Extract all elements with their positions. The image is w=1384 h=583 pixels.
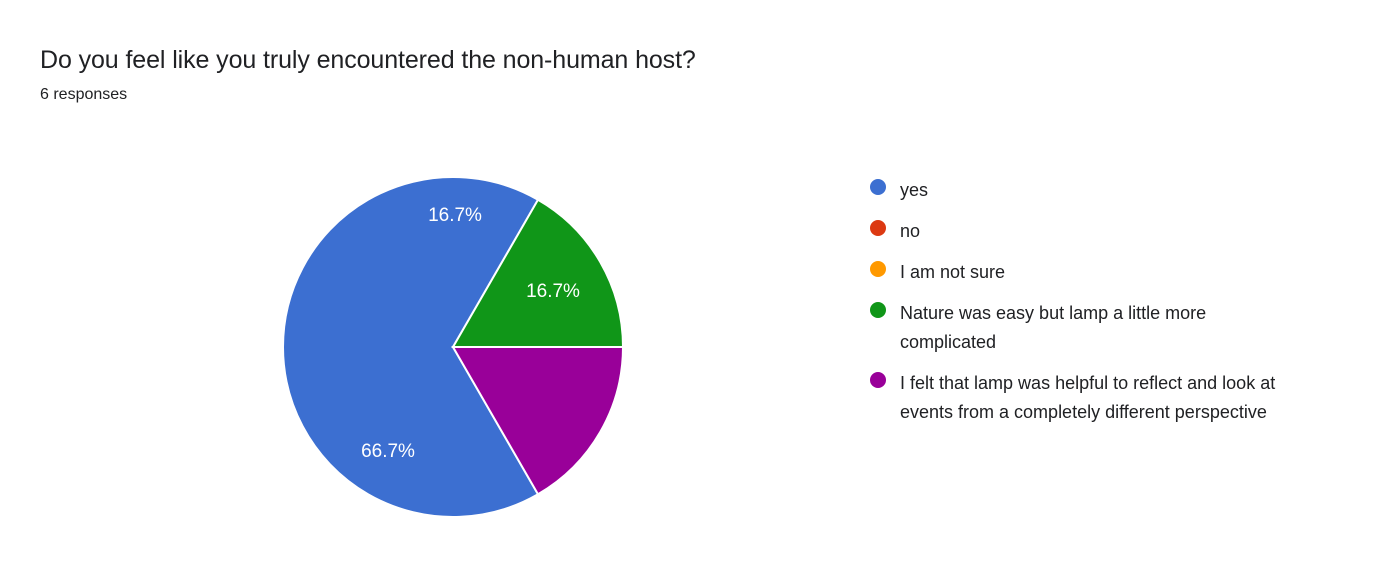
- legend-item-5[interactable]: I felt that lamp was helpful to reflect …: [870, 369, 1320, 427]
- chart-page: Do you feel like you truly encountered t…: [0, 0, 1384, 583]
- legend-item-3[interactable]: I am not sure: [870, 258, 1320, 287]
- pie-chart-svg: 66.7%16.7%16.7%: [283, 177, 624, 518]
- legend-item-label: I am not sure: [900, 258, 1005, 287]
- legend-color-swatch-icon: [870, 179, 886, 195]
- legend-item-2[interactable]: no: [870, 217, 1320, 246]
- legend-color-swatch-icon: [870, 261, 886, 277]
- pie-slice-label-1: 66.7%: [361, 441, 415, 462]
- pie-chart-area: 66.7%16.7%16.7% yesnoI am not sureNature…: [0, 140, 1384, 570]
- chart-legend: yesnoI am not sureNature was easy but la…: [870, 176, 1320, 427]
- chart-header: Do you feel like you truly encountered t…: [40, 44, 940, 106]
- legend-item-4[interactable]: Nature was easy but lamp a little more c…: [870, 299, 1320, 357]
- legend-item-label: yes: [900, 176, 928, 205]
- pie-chart[interactable]: 66.7%16.7%16.7%: [283, 177, 624, 518]
- legend-item-label: no: [900, 217, 920, 246]
- pie-slice-group: [283, 177, 623, 517]
- legend-color-swatch-icon: [870, 302, 886, 318]
- response-count: 6 responses: [40, 84, 940, 106]
- legend-item-label: Nature was easy but lamp a little more c…: [900, 299, 1304, 357]
- pie-slice-label-5: 16.7%: [526, 281, 580, 302]
- question-title: Do you feel like you truly encountered t…: [40, 44, 940, 76]
- legend-item-label: I felt that lamp was helpful to reflect …: [900, 369, 1304, 427]
- pie-slice-label-4: 16.7%: [428, 205, 482, 226]
- legend-color-swatch-icon: [870, 220, 886, 236]
- legend-color-swatch-icon: [870, 372, 886, 388]
- legend-item-1[interactable]: yes: [870, 176, 1320, 205]
